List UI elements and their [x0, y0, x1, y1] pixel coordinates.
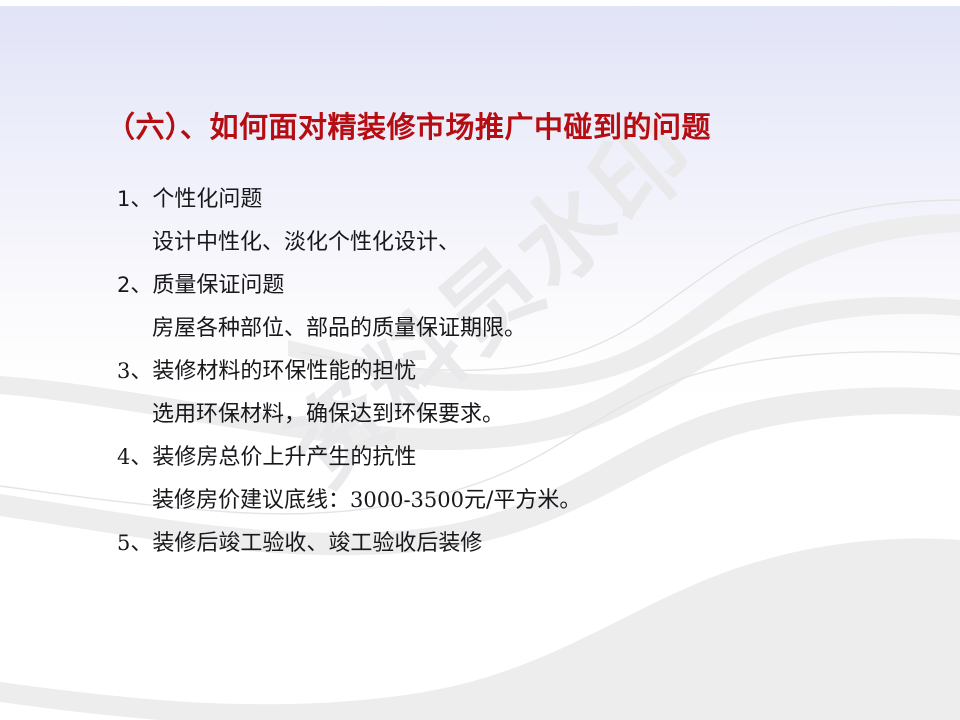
page-title: （六）、如何面对精装修市场推广中碰到的问题: [106, 104, 711, 146]
list-heading-text-1: 个性化问题: [152, 187, 262, 212]
list-item-detail-4: 装修房价建议底线：3000-3500元/平方米。: [117, 479, 877, 522]
list-item-detail-2: 房屋各种部位、部品的质量保证期限。: [117, 307, 877, 350]
list-detail-text-3: 选用环保材料，确保达到环保要求。: [152, 402, 504, 427]
list-detail-prefix-4: 装修房价建议底线：: [152, 488, 350, 513]
list-separator-3: 、: [130, 359, 152, 384]
list-number-2: 2: [117, 273, 130, 297]
slide-canvas: 资料员水印 （六）、如何面对精装修市场推广中碰到的问题 1、个性化问题 设计中性…: [0, 0, 960, 720]
list-number-4: 4: [117, 445, 130, 469]
list-separator-4: 、: [130, 445, 152, 470]
list-separator-5: 、: [130, 531, 152, 556]
list-item-heading-3: 3、装修材料的环保性能的担忧: [117, 350, 877, 393]
list-number-3: 3: [117, 359, 130, 383]
price-range-value: 3000-3500: [350, 488, 464, 512]
list-item-detail-1: 设计中性化、淡化个性化设计、: [117, 221, 877, 264]
list-item-heading-5: 5、装修后竣工验收、竣工验收后装修: [117, 522, 877, 565]
list-heading-text-3: 装修材料的环保性能的担忧: [152, 359, 416, 384]
list-detail-suffix-4: 元/平方米。: [464, 488, 581, 513]
top-white-strip: [0, 0, 960, 6]
list-item-heading-4: 4、装修房总价上升产生的抗性: [117, 436, 877, 479]
list-number-5: 5: [117, 531, 130, 555]
list-separator-2: 、: [130, 273, 152, 298]
list-heading-text-2: 质量保证问题: [152, 273, 284, 298]
list-item-detail-3: 选用环保材料，确保达到环保要求。: [117, 393, 877, 436]
list-detail-text-2: 房屋各种部位、部品的质量保证期限。: [152, 316, 526, 341]
list-number-1: 1: [117, 187, 130, 211]
list-detail-text-1: 设计中性化、淡化个性化设计、: [152, 230, 460, 255]
list-item-heading-1: 1、个性化问题: [117, 178, 877, 221]
content-body: 1、个性化问题 设计中性化、淡化个性化设计、 2、质量保证问题 房屋各种部位、部…: [117, 178, 877, 565]
list-heading-text-5: 装修后竣工验收、竣工验收后装修: [152, 531, 482, 556]
list-heading-text-4: 装修房总价上升产生的抗性: [152, 445, 416, 470]
list-item-heading-2: 2、质量保证问题: [117, 264, 877, 307]
list-separator-1: 、: [130, 187, 152, 212]
